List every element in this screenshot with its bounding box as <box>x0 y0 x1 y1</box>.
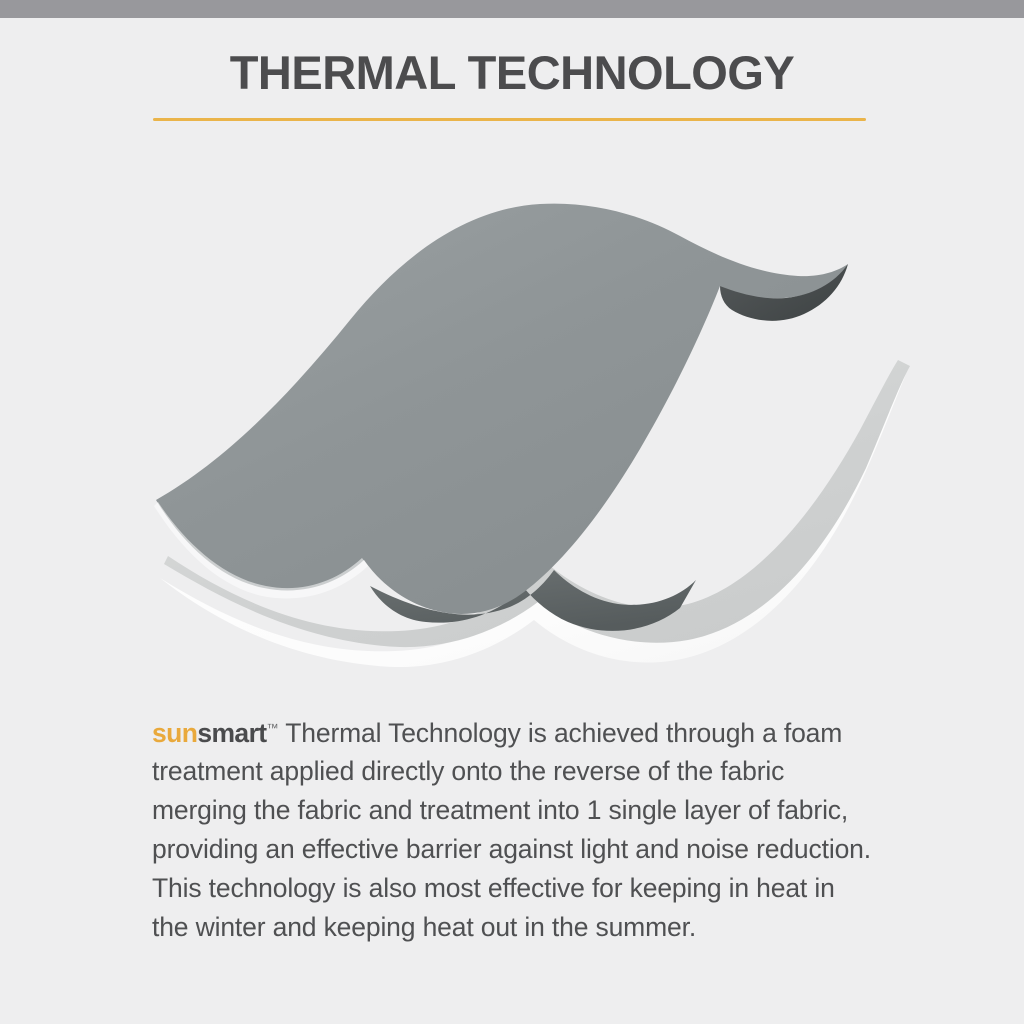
body-paragraph-text: Thermal Technology is achieved through a… <box>152 717 871 942</box>
page-canvas: THERMAL TECHNOLOGY <box>0 18 1024 1024</box>
brand-sun-text: sun <box>152 717 197 747</box>
trademark-symbol: ™ <box>267 721 279 735</box>
body-paragraph: sunsmart™ Thermal Technology is achieved… <box>152 709 878 948</box>
layered-fabric-illustration <box>120 188 920 668</box>
top-chrome-band <box>0 0 1024 18</box>
header-block: THERMAL TECHNOLOGY <box>0 48 1024 97</box>
brand-smart-text: smart <box>197 717 266 747</box>
title-underline-rule <box>153 118 866 121</box>
fabric-top-gray-layer <box>156 204 848 614</box>
page-title: THERMAL TECHNOLOGY <box>0 48 1024 97</box>
